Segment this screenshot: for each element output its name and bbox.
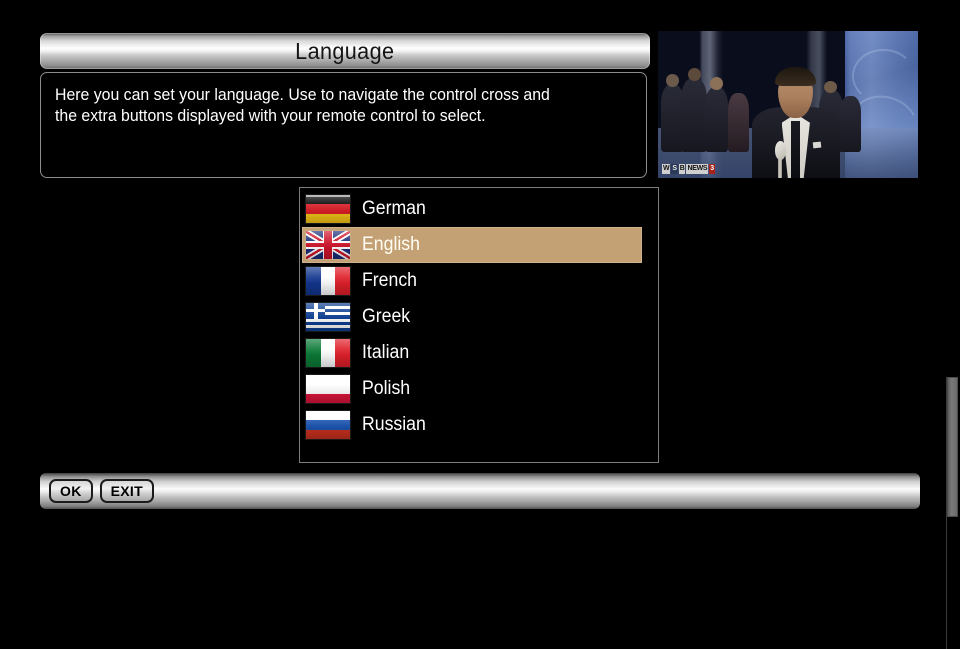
crowd-figure [688,68,701,81]
list-item-label: Russian [362,414,426,436]
list-item-german[interactable]: German [302,191,642,227]
list-item-label: French [362,270,417,292]
exit-button[interactable]: EXIT [100,479,154,503]
flag-italy-icon [306,339,350,367]
list-item-label: Italian [362,342,409,364]
crowd-figure [728,93,749,152]
crowd-figure [666,74,679,87]
channel-logo-part: S [671,164,677,174]
language-list: German English [302,191,642,443]
description-line-2: the extra buttons displayed with your re… [55,106,609,127]
list-item-russian[interactable]: Russian [302,407,642,443]
flag-russia-icon [306,411,350,439]
reporter-tie [791,121,800,178]
list-item-label: English [362,234,420,256]
footer-bar: OK EXIT [40,473,920,509]
channel-logo-part: B [679,164,686,174]
scrollbar-thumb[interactable] [947,377,958,517]
reporter-hair [775,67,816,86]
exit-button-label: EXIT [111,483,143,499]
flag-united-kingdom-icon [306,231,350,259]
flag-poland-icon [306,375,350,403]
list-item-greek[interactable]: Greek [302,299,642,335]
channel-logo-part: NEWS [686,164,708,174]
crowd-figure [681,78,707,152]
video-preview[interactable]: W S B NEWS 3 [658,31,918,178]
description-line-1: Here you can set your language. Use to n… [55,85,609,106]
channel-logo-part: W [662,164,670,174]
list-scrollbar[interactable] [946,377,958,649]
list-item-polish[interactable]: Polish [302,371,642,407]
description-panel: Here you can set your language. Use to n… [40,72,647,178]
language-list-panel: German English [299,187,659,463]
tv-settings-screen: Language Here you can set your language.… [0,0,960,540]
list-item-label: Polish [362,378,410,400]
list-item-label: Greek [362,306,410,328]
flag-greece-icon [306,303,350,331]
microphone-icon [775,141,786,178]
page-title: Language [295,38,394,65]
reporter-figure [752,63,840,178]
channel-logo-part: 3 [709,164,715,174]
ok-button-label: OK [60,483,82,499]
flag-germany-icon [306,195,350,223]
channel-logo: W S B NEWS 3 [662,163,715,175]
list-item-italian[interactable]: Italian [302,335,642,371]
flag-france-icon [306,267,350,295]
window-title-bar: Language [40,33,650,69]
crowd-figure [705,87,728,152]
list-item-french[interactable]: French [302,263,642,299]
list-item-label: German [362,198,426,220]
list-item-english[interactable]: English [302,227,642,263]
ok-button[interactable]: OK [49,479,93,503]
crowd-figure [710,77,723,90]
crowd-figure [840,96,861,152]
